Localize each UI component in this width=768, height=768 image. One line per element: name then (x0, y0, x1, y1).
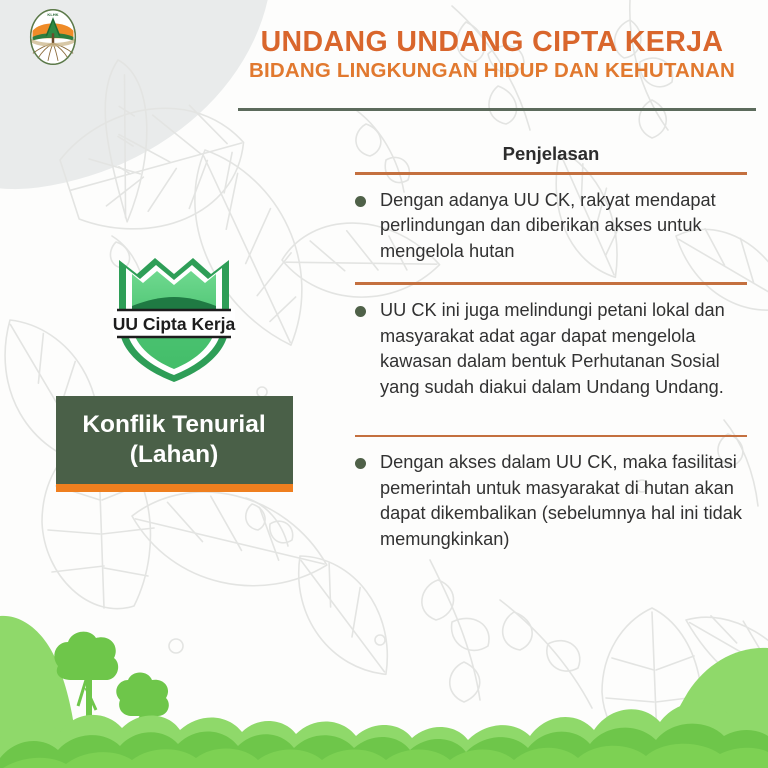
klhk-ministry-emblem-icon: KLHK (22, 6, 84, 68)
topic-accent-bar (56, 484, 293, 492)
topic-column: UU Cipta Kerja Konflik Tenurial (Lahan) (18, 240, 330, 492)
list-item: Dengan adanya UU CK, rakyat mendapat per… (355, 175, 747, 283)
uu-cipta-kerja-shield-badge: UU Cipta Kerja (99, 240, 249, 390)
poster-header: KLHK UNDANG UNDANG CIPTA KERJA BIDANG LI… (0, 0, 768, 120)
infographic-poster: KLHK UNDANG UNDANG CIPTA KERJA BIDANG LI… (0, 0, 768, 768)
topic-title-box: Konflik Tenurial (Lahan) (56, 396, 293, 484)
forest-scenery-illustration (0, 588, 768, 768)
topic-title-line-1: Konflik Tenurial (64, 410, 285, 440)
bullet-dot-icon (355, 458, 366, 469)
list-item-text: Dengan akses dalam UU CK, maka fasilitas… (380, 450, 747, 553)
topic-title-line-2: (Lahan) (64, 440, 285, 470)
list-item-text: UU CK ini juga melindungi petani lokal d… (380, 298, 747, 401)
list-item: Dengan akses dalam UU CK, maka fasilitas… (355, 437, 747, 567)
bullet-dot-icon (355, 306, 366, 317)
bullet-dot-icon (355, 196, 366, 207)
page-title: UNDANG UNDANG CIPTA KERJA (232, 28, 752, 58)
poster-title-block: UNDANG UNDANG CIPTA KERJA BIDANG LINGKUN… (232, 28, 752, 82)
page-subtitle: BIDANG LINGKUNGAN HIDUP DAN KEHUTANAN (232, 60, 752, 83)
svg-text:KLHK: KLHK (47, 12, 58, 17)
list-item: UU CK ini juga melindungi petani lokal d… (355, 285, 747, 435)
shield-badge-label: UU Cipta Kerja (113, 314, 236, 334)
explanation-heading: Penjelasan (355, 143, 747, 172)
list-item-text: Dengan adanya UU CK, rakyat mendapat per… (380, 188, 747, 265)
shield-icon: UU Cipta Kerja (99, 240, 249, 390)
explanation-panel: Penjelasan Dengan adanya UU CK, rakyat m… (355, 143, 747, 567)
header-divider (238, 108, 756, 111)
